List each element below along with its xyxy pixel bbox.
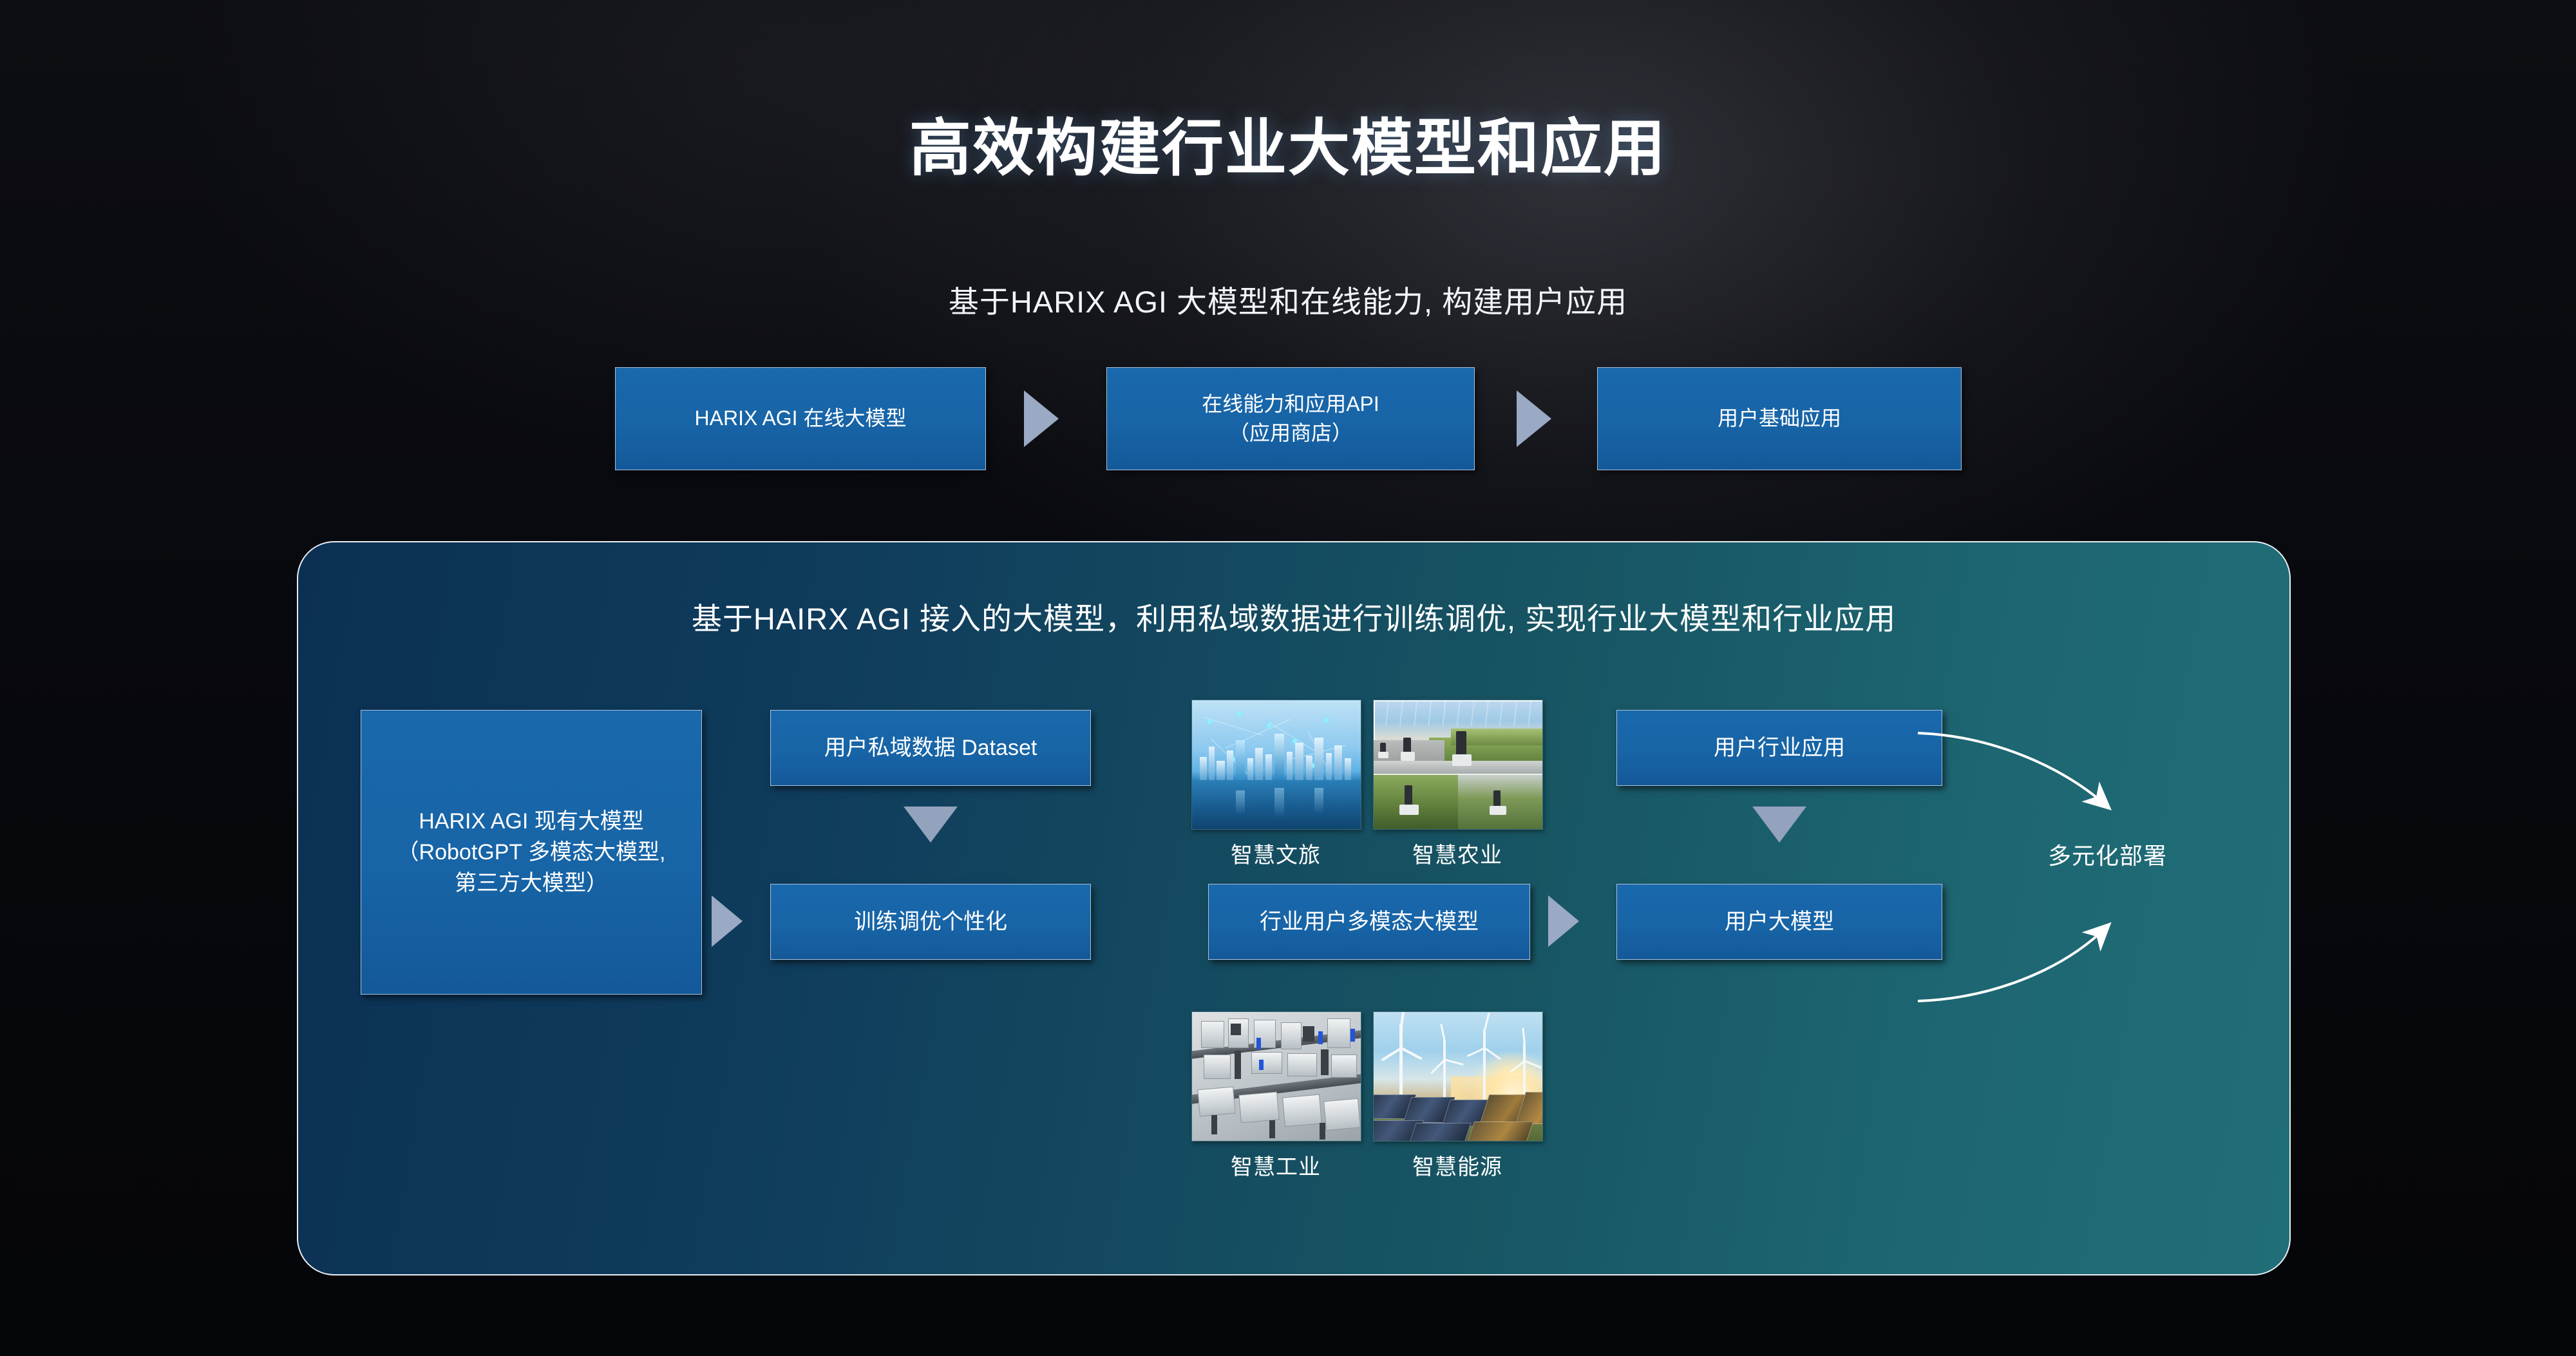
thumbnail-smart-agriculture[interactable] <box>1373 700 1543 830</box>
page-subtitle: 基于HARIX AGI 大模型和在线能力, 构建用户应用 <box>0 277 2576 321</box>
triangle-right-icon-top-2 <box>1517 390 1551 447</box>
panel-industry-model-box[interactable]: 行业用户多模态大模型 <box>1208 884 1530 960</box>
smart-industry-factory-image <box>1192 1012 1361 1141</box>
curved-arrow-down-right-icon <box>1918 733 2106 805</box>
panel-title: 基于HAIRX AGI 接入的大模型，利用私域数据进行训练调优, 实现行业大模型… <box>298 594 2289 638</box>
user-industry-app-label: 用户行业应用 <box>1714 732 1845 763</box>
top-flow-box-online-api[interactable]: 在线能力和应用API （应用商店） <box>1106 367 1475 470</box>
top-flow-box-2-line1: 在线能力和应用API <box>1202 390 1379 419</box>
curved-arrow-up-right-icon <box>1918 928 2106 1001</box>
source-box-line1: HARIX AGI 现有大模型 <box>419 806 644 837</box>
triangle-down-icon-middle <box>904 807 958 843</box>
page-title: 高效构建行业大模型和应用 <box>0 98 2576 187</box>
smart-tourism-city-image <box>1192 700 1361 829</box>
smart-agriculture-greenhouse-image <box>1374 700 1542 829</box>
thumbnail-caption-smart-industry: 智慧工业 <box>1191 1149 1360 1181</box>
dataset-box-label: 用户私域数据 Dataset <box>824 732 1037 763</box>
thumbnail-smart-industry[interactable] <box>1191 1011 1361 1141</box>
panel-user-industry-app-box[interactable]: 用户行业应用 <box>1616 710 1942 786</box>
top-flow-box-user-base-app[interactable]: 用户基础应用 <box>1597 367 1962 470</box>
thumbnail-caption-smart-tourism: 智慧文旅 <box>1191 837 1360 869</box>
triangle-right-icon-panel-2 <box>1548 895 1579 947</box>
top-flow-box-harix-online-model[interactable]: HARIX AGI 在线大模型 <box>615 367 986 470</box>
top-flow-box-1-label: HARIX AGI 在线大模型 <box>695 404 907 433</box>
panel-source-model-box[interactable]: HARIX AGI 现有大模型 （RobotGPT 多模态大模型, 第三方大模型… <box>361 710 702 995</box>
thumbnail-caption-smart-agriculture: 智慧农业 <box>1373 837 1542 869</box>
top-flow-box-3-label: 用户基础应用 <box>1718 404 1841 433</box>
user-model-label: 用户大模型 <box>1725 906 1834 937</box>
deployment-label: 多元化部署 <box>2048 837 2167 871</box>
thumbnail-smart-energy[interactable] <box>1373 1011 1543 1141</box>
panel-dataset-box[interactable]: 用户私域数据 Dataset <box>770 710 1091 786</box>
panel-user-model-box[interactable]: 用户大模型 <box>1616 884 1942 960</box>
thumbnail-caption-smart-energy: 智慧能源 <box>1373 1149 1542 1181</box>
top-flow-box-2-line2: （应用商店） <box>1229 419 1352 448</box>
source-box-line3: 第三方大模型） <box>455 868 608 899</box>
smart-energy-wind-solar-image <box>1374 1012 1542 1141</box>
training-box-label: 训练调优个性化 <box>854 906 1007 937</box>
industry-model-box-label: 行业用户多模态大模型 <box>1260 906 1479 937</box>
triangle-right-icon-top-1 <box>1024 390 1059 447</box>
panel-training-box[interactable]: 训练调优个性化 <box>770 884 1091 960</box>
source-box-line2: （RobotGPT 多模态大模型, <box>397 837 666 868</box>
thumbnail-smart-tourism[interactable] <box>1191 700 1361 830</box>
triangle-down-icon-right <box>1752 807 1806 843</box>
triangle-right-icon-panel-1 <box>712 895 743 947</box>
